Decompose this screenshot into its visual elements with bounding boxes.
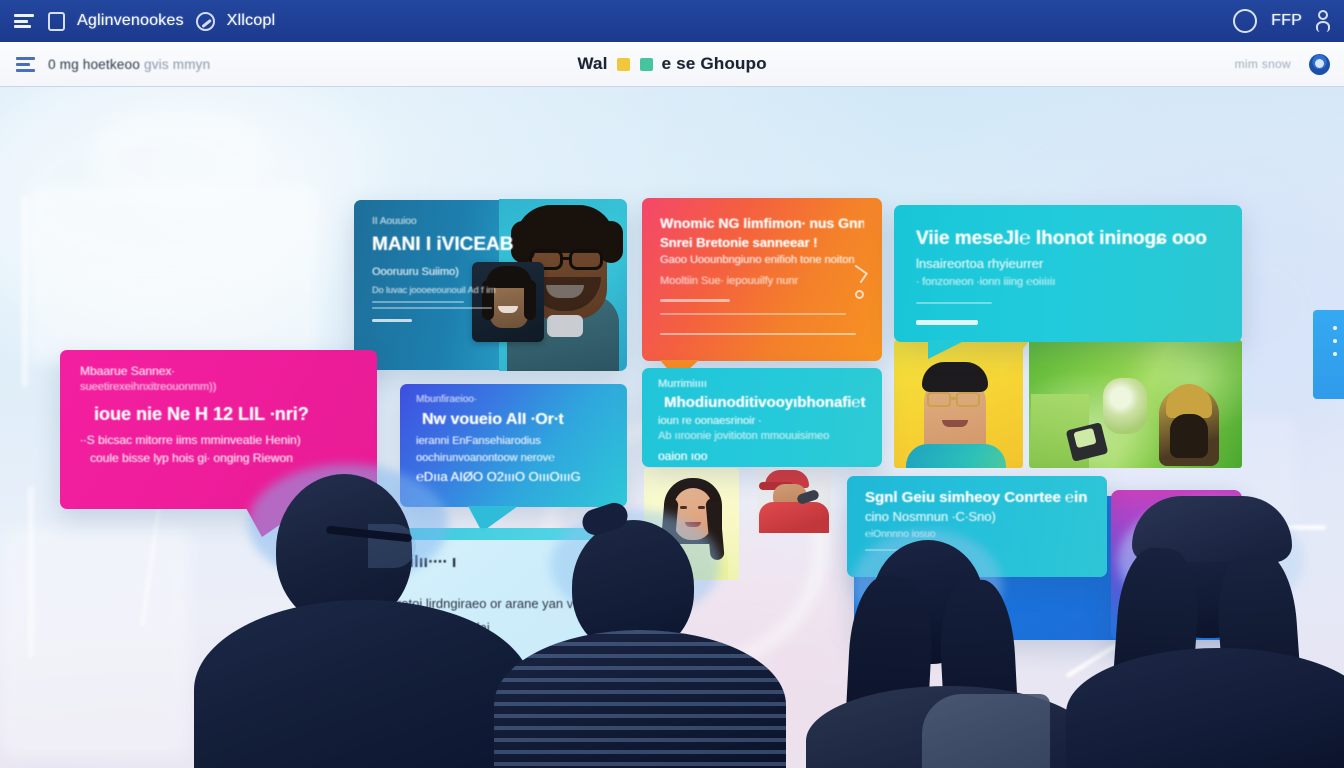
- title-badge-1: [617, 58, 630, 71]
- welcome-card[interactable]: II Aouuioo MANI I iVICEAB Oooruuru Suiim…: [354, 200, 626, 370]
- shoulders: [194, 600, 532, 768]
- welcome-card-text: II Aouuioo MANI I iVICEAB Oooruuru Suiim…: [354, 200, 626, 370]
- circle-icon[interactable]: [1233, 9, 1257, 33]
- card-line: ieranni EnFansehiarodius: [416, 435, 611, 447]
- card-line: Wnomic NG limfimon∙ nus Gnnne: [660, 215, 864, 231]
- striped-shirt: [494, 630, 786, 768]
- link-icon[interactable]: [196, 12, 215, 31]
- card-line: ioue nie Ne H 12 LIL ∙nri?: [94, 404, 357, 425]
- card-bar: [660, 333, 856, 335]
- card-line: Viie meseJl℮ lhonot ininogɕ ooo: [916, 228, 1220, 250]
- card-bar: [916, 302, 992, 304]
- announcement-card[interactable]: Wnomic NG limfimon∙ nus Gnnne Snrei Bret…: [642, 198, 882, 361]
- card-line: lnsaireortoa rhyieurrer: [916, 256, 1220, 271]
- shirt-panel: [922, 694, 1050, 768]
- page-title-prefix: Wal: [577, 54, 607, 74]
- address-bar-text: 0 mg hoetkeoo: [48, 57, 140, 72]
- card-line: Ab ııroonie jovitioton mmouuisimeo: [658, 430, 866, 442]
- card-line: coule bisse lyp hois gi∙ onging Riewon: [90, 451, 357, 465]
- titlebar-tab-label[interactable]: Aglinvenookes: [77, 12, 184, 30]
- feature-card-text: Viie meseJl℮ lhonot ininogɕ ooo lnsaireo…: [894, 205, 1242, 342]
- card-line: Sgnl Geiu simheoy Conrtee ℮in: [865, 489, 1089, 506]
- card-line: Mooltiin Sue∙ iepouuilfy nunr: [660, 275, 864, 287]
- feature-card[interactable]: Viie meseJl℮ lhonot ininogɕ ooo lnsaireo…: [894, 205, 1242, 342]
- card-line: Oooruuru Suiimo): [372, 266, 522, 278]
- titlebar-account-label[interactable]: FFP: [1271, 12, 1302, 30]
- card-line: Murrimiıııı: [658, 378, 866, 390]
- card-line: ioun re oonaesrinoir ∙: [658, 415, 866, 427]
- page-title-suffix: e se Ghoupo: [662, 54, 767, 74]
- back-icon[interactable]: [14, 56, 36, 73]
- card-line: Mbunfiraeioo∙: [416, 394, 611, 405]
- card-bar: [372, 307, 492, 309]
- toolbar-right-group: mim snow: [1235, 54, 1330, 75]
- card-bar: [372, 301, 464, 303]
- card-line: Nw voueio AlI ∙Or∙t: [422, 411, 611, 429]
- card-bar: [660, 313, 846, 315]
- titlebar-left-group: Aglinvenookes Xllcopl: [14, 12, 275, 31]
- bg-line-b: [28, 487, 34, 657]
- toolbar-hint-text: mim snow: [1235, 57, 1291, 71]
- title-badge-2: [640, 58, 653, 71]
- feature-card-tail: [928, 340, 966, 359]
- card-bar: [916, 320, 978, 325]
- viewer-silhouette-3: [800, 518, 1100, 768]
- hamburger-icon[interactable]: [14, 12, 36, 30]
- card-bar: [660, 299, 730, 302]
- card-line: ∙∙S bicsac mitorre iims mminveatie Henin…: [80, 433, 357, 447]
- card-line: Do luvac joooeeounouil Ad f im: [372, 285, 522, 295]
- browser-toolbar: 0 mg hoetkeoo gvis mmyn Wal e se Ghoupo …: [0, 42, 1344, 87]
- avatar-icon[interactable]: [1309, 54, 1330, 75]
- viewer-silhouette-4: [1070, 508, 1344, 768]
- bg-line-a: [22, 197, 28, 387]
- card-line: oaion ıoo: [658, 449, 866, 463]
- screenshot-root: Aglinvenookes Xllcopl FFP 0 mg hoetkeoo …: [0, 0, 1344, 768]
- side-panel-blue[interactable]: [1313, 310, 1344, 399]
- viewer-silhouette-2: [490, 508, 790, 768]
- tab-icon[interactable]: [48, 12, 65, 31]
- card-bar: [372, 319, 412, 322]
- notice-card[interactable]: Murrimiıııı Mhodiunoditivooyıbhonafi℮t i…: [642, 368, 882, 467]
- shoulders: [1066, 648, 1344, 768]
- card-line: II Aouuioo: [372, 216, 522, 227]
- status-dot: [855, 290, 864, 299]
- scene-illustration: II Aouuioo MANI I iVICEAB Oooruuru Suiim…: [0, 87, 1344, 768]
- address-bar[interactable]: 0 mg hoetkeoo gvis mmyn: [48, 57, 210, 72]
- card-line: sueetirexeihnxitreouonmm)): [80, 381, 357, 393]
- viewer-silhouette-1: [200, 468, 530, 768]
- card-line: MANI I iVICEAB: [372, 234, 522, 256]
- bg-panel-a: [28, 187, 318, 362]
- panel-dots: [1333, 326, 1337, 356]
- card-line: Mhodiunoditivooyıbhonafi℮t: [664, 394, 866, 411]
- card-line: ∙ fonzoneon ∙ionn iiing ℮oiıiıiı: [916, 276, 1220, 288]
- titlebar-second-label[interactable]: Xllcopl: [227, 12, 276, 30]
- card-line: Mbaarue Sannex∙: [80, 364, 357, 378]
- card-line: Snrei Bretonie sanneear !: [660, 235, 864, 250]
- person-icon[interactable]: [1316, 10, 1330, 32]
- card-line: oochirunvoanontoow nerov℮: [416, 452, 611, 464]
- bg-arc-a: [88, 107, 268, 207]
- welcome-card-lines: II Aouuioo MANI I iVICEAB Oooruuru Suiim…: [372, 216, 522, 322]
- titlebar-right-group: FFP: [1233, 9, 1330, 33]
- yellow-card-tail: [1000, 340, 1030, 378]
- notice-card-text: Murrimiıııı Mhodiunoditivooyıbhonafi℮t i…: [642, 368, 882, 467]
- announcement-card-text: Wnomic NG limfimon∙ nus Gnnne Snrei Bret…: [642, 198, 882, 361]
- browser-titlebar: Aglinvenookes Xllcopl FFP: [0, 0, 1344, 42]
- scene-photo-green: [1029, 340, 1242, 468]
- address-bar-suffix: gvis mmyn: [144, 57, 210, 72]
- card-line: Gaoo Uoounbngiuno enifioh tone noiton: [660, 254, 864, 266]
